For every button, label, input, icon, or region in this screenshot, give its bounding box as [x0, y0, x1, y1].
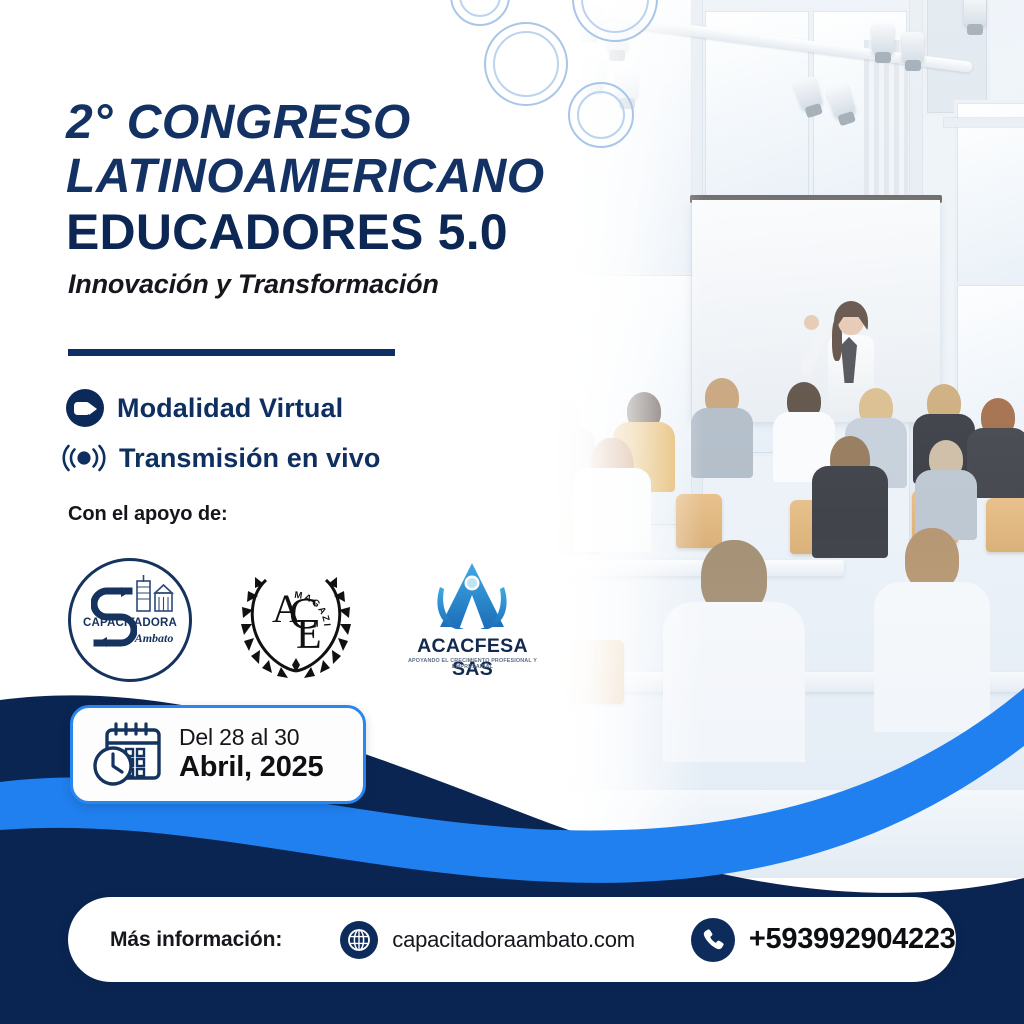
- decorative-ring: [450, 0, 510, 26]
- poster-subtitle: Innovación y Transformación: [68, 269, 586, 300]
- window-pane: [954, 100, 1024, 286]
- title-line-3: EDUCADORES 5.0: [66, 204, 586, 261]
- title-divider: [68, 349, 395, 356]
- event-poster: 2° CONGRESO LATINOAMERICANO EDUCADORES 5…: [0, 0, 1024, 1024]
- website-contact[interactable]: capacitadoraambato.com: [340, 921, 635, 959]
- more-info-label: Más información:: [110, 928, 282, 952]
- feature-modalidad-virtual: Modalidad Virtual: [66, 389, 343, 427]
- calendar-clock-icon: [91, 720, 165, 790]
- phone-number[interactable]: +593992904223: [749, 923, 956, 956]
- date-month-year: Abril, 2025: [179, 751, 324, 783]
- title-line-2: LATINOAMERICANO: [66, 150, 586, 204]
- capacitadora-logo-name: CAPACITADORA: [83, 617, 177, 629]
- date-card: Del 28 al 30 Abril, 2025: [70, 705, 366, 804]
- date-range: Del 28 al 30: [179, 725, 324, 751]
- live-broadcast-icon: [62, 441, 106, 475]
- poster-title: 2° CONGRESO LATINOAMERICANO EDUCADORES 5…: [66, 96, 586, 300]
- stage-light: [964, 0, 986, 26]
- svg-text:E: E: [296, 612, 322, 658]
- title-line-1: 2° CONGRESO: [66, 96, 586, 150]
- globe-icon: [340, 921, 378, 959]
- capacitadora-ambato-logo: CAPACITADORA Ambato: [68, 558, 192, 682]
- acacfesa-sas-logo: ACACFESA SAS APOYANDO EL CRECIMIENTO PRO…: [400, 561, 545, 679]
- ace-magazine-logo: A C E MAGAZINE: [236, 560, 356, 680]
- feature-label: Transmisión en vivo: [119, 443, 381, 474]
- chair: [676, 494, 722, 548]
- feature-label: Modalidad Virtual: [117, 393, 343, 424]
- curtain: [864, 40, 908, 210]
- phone-contact[interactable]: +593992904223: [691, 918, 956, 962]
- website-url[interactable]: capacitadoraambato.com: [392, 927, 635, 953]
- decorative-ring: [484, 22, 568, 106]
- capacitadora-logo-sub: Ambato: [135, 631, 174, 646]
- support-label: Con el apoyo de:: [68, 503, 228, 526]
- phone-icon: [691, 918, 735, 962]
- contact-bar: Más información: capacitadoraambato.com …: [68, 897, 956, 982]
- stage-light: [872, 24, 894, 54]
- window-mullion: [944, 118, 1024, 127]
- chair: [986, 498, 1024, 552]
- stage-light: [902, 32, 924, 62]
- video-camera-icon: [66, 389, 104, 427]
- desk: [554, 560, 844, 576]
- feature-transmision-en-vivo: Transmisión en vivo: [62, 441, 381, 475]
